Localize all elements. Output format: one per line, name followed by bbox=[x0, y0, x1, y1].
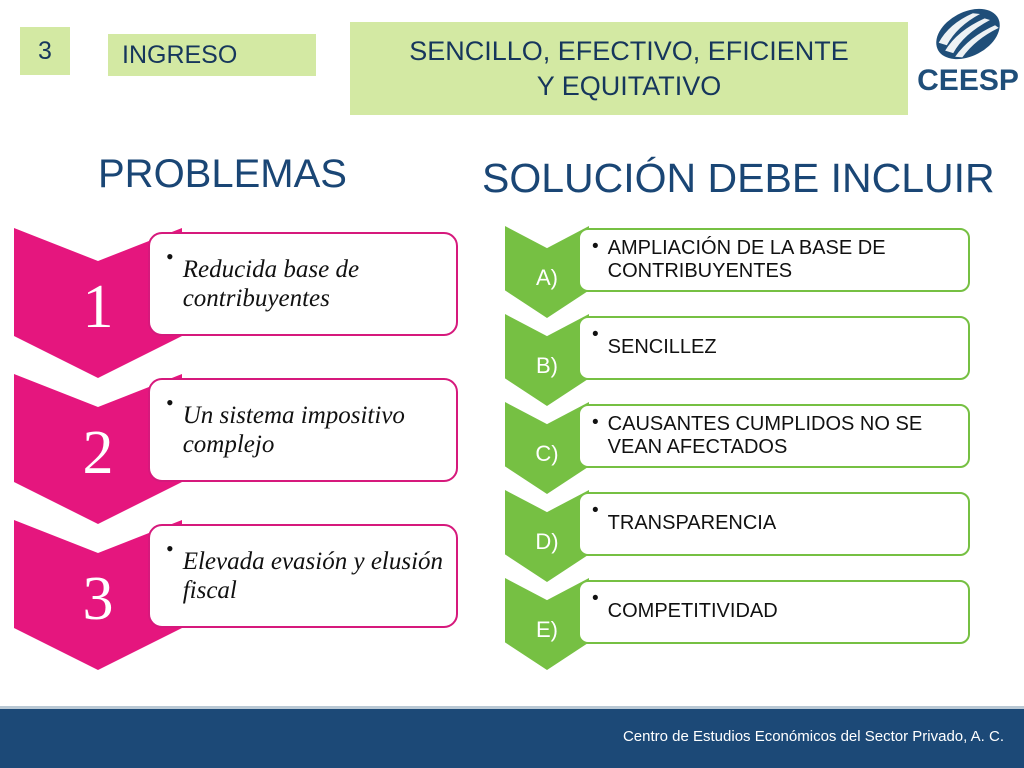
problem-card-2[interactable]: • Un sistema impositivo complejo bbox=[148, 378, 458, 482]
problem-card-1[interactable]: • Reducida base de contribuyentes bbox=[148, 232, 458, 336]
solution-card-e-text: COMPETITIVIDAD bbox=[608, 600, 958, 623]
solution-card-a[interactable]: • AMPLIACIÓN DE LA BASE DE CONTRIBUYENTE… bbox=[578, 228, 970, 292]
solution-chevron-e: E) bbox=[505, 578, 589, 670]
problem-chevron-3-marker: 3 bbox=[83, 564, 114, 635]
footer-bar: Centro de Estudios Económicos del Sector… bbox=[0, 709, 1024, 768]
slide-title-line-1: SENCILLO, EFECTIVO, EFICIENTE bbox=[409, 34, 849, 68]
footer-text: Centro de Estudios Económicos del Sector… bbox=[623, 728, 1004, 745]
slide-canvas: 3 INGRESO SENCILLO, EFECTIVO, EFICIENTE … bbox=[0, 0, 1024, 768]
solution-chevron-c: C) bbox=[505, 402, 589, 494]
solution-card-c[interactable]: • CAUSANTES CUMPLIDOS NO SE VEAN AFECTAD… bbox=[578, 404, 970, 468]
problem-chevron-2-marker: 2 bbox=[83, 418, 114, 489]
problem-chevron-1-marker: 1 bbox=[83, 272, 114, 343]
solution-card-b-text: SENCILLEZ bbox=[608, 336, 958, 359]
bullet-icon: • bbox=[592, 325, 599, 344]
bullet-icon: • bbox=[166, 392, 174, 414]
bullet-icon: • bbox=[166, 538, 174, 560]
problem-card-3[interactable]: • Elevada evasión y elusión fiscal bbox=[148, 524, 458, 628]
solution-card-d-text: TRANSPARENCIA bbox=[608, 512, 958, 535]
bullet-icon: • bbox=[592, 589, 599, 608]
bullet-icon: • bbox=[592, 501, 599, 520]
ceesp-logo: CEESP bbox=[916, 4, 1020, 96]
problem-card-3-text: Elevada evasión y elusión fiscal bbox=[183, 547, 444, 606]
slide-title-line-2: Y EQUITATIVO bbox=[537, 69, 722, 103]
slide-number-badge: 3 bbox=[20, 27, 70, 75]
slide-title-banner: SENCILLO, EFECTIVO, EFICIENTE Y EQUITATI… bbox=[350, 22, 908, 115]
solution-chevron-d: D) bbox=[505, 490, 589, 582]
solution-chevron-e-marker: E) bbox=[536, 617, 558, 643]
solution-chevron-d-marker: D) bbox=[535, 529, 558, 555]
solution-card-d[interactable]: • TRANSPARENCIA bbox=[578, 492, 970, 556]
ceesp-logo-wordmark: CEESP bbox=[917, 64, 1019, 96]
problems-heading: PROBLEMAS bbox=[98, 152, 347, 197]
solution-card-e[interactable]: • COMPETITIVIDAD bbox=[578, 580, 970, 644]
solution-chevron-b: B) bbox=[505, 314, 589, 406]
problem-card-1-text: Reducida base de contribuyentes bbox=[183, 255, 444, 314]
section-label-badge: INGRESO bbox=[108, 34, 316, 76]
solution-card-c-text: CAUSANTES CUMPLIDOS NO SE VEAN AFECTADOS bbox=[608, 413, 958, 460]
solutions-heading: SOLUCIÓN DEBE INCLUIR bbox=[482, 155, 995, 202]
slide-number-text: 3 bbox=[38, 37, 52, 66]
solution-card-a-text: AMPLIACIÓN DE LA BASE DE CONTRIBUYENTES bbox=[608, 237, 958, 284]
solution-chevron-a-marker: A) bbox=[536, 265, 558, 291]
bullet-icon: • bbox=[166, 246, 174, 268]
bullet-icon: • bbox=[592, 413, 599, 432]
section-label-text: INGRESO bbox=[122, 41, 237, 70]
problem-card-2-text: Un sistema impositivo complejo bbox=[183, 401, 444, 460]
solution-chevron-c-marker: C) bbox=[535, 441, 558, 467]
solution-card-b[interactable]: • SENCILLEZ bbox=[578, 316, 970, 380]
solution-chevron-a: A) bbox=[505, 226, 589, 318]
bullet-icon: • bbox=[592, 237, 599, 256]
solution-chevron-b-marker: B) bbox=[536, 353, 558, 379]
ceesp-logo-icon: CEESP bbox=[916, 4, 1020, 96]
